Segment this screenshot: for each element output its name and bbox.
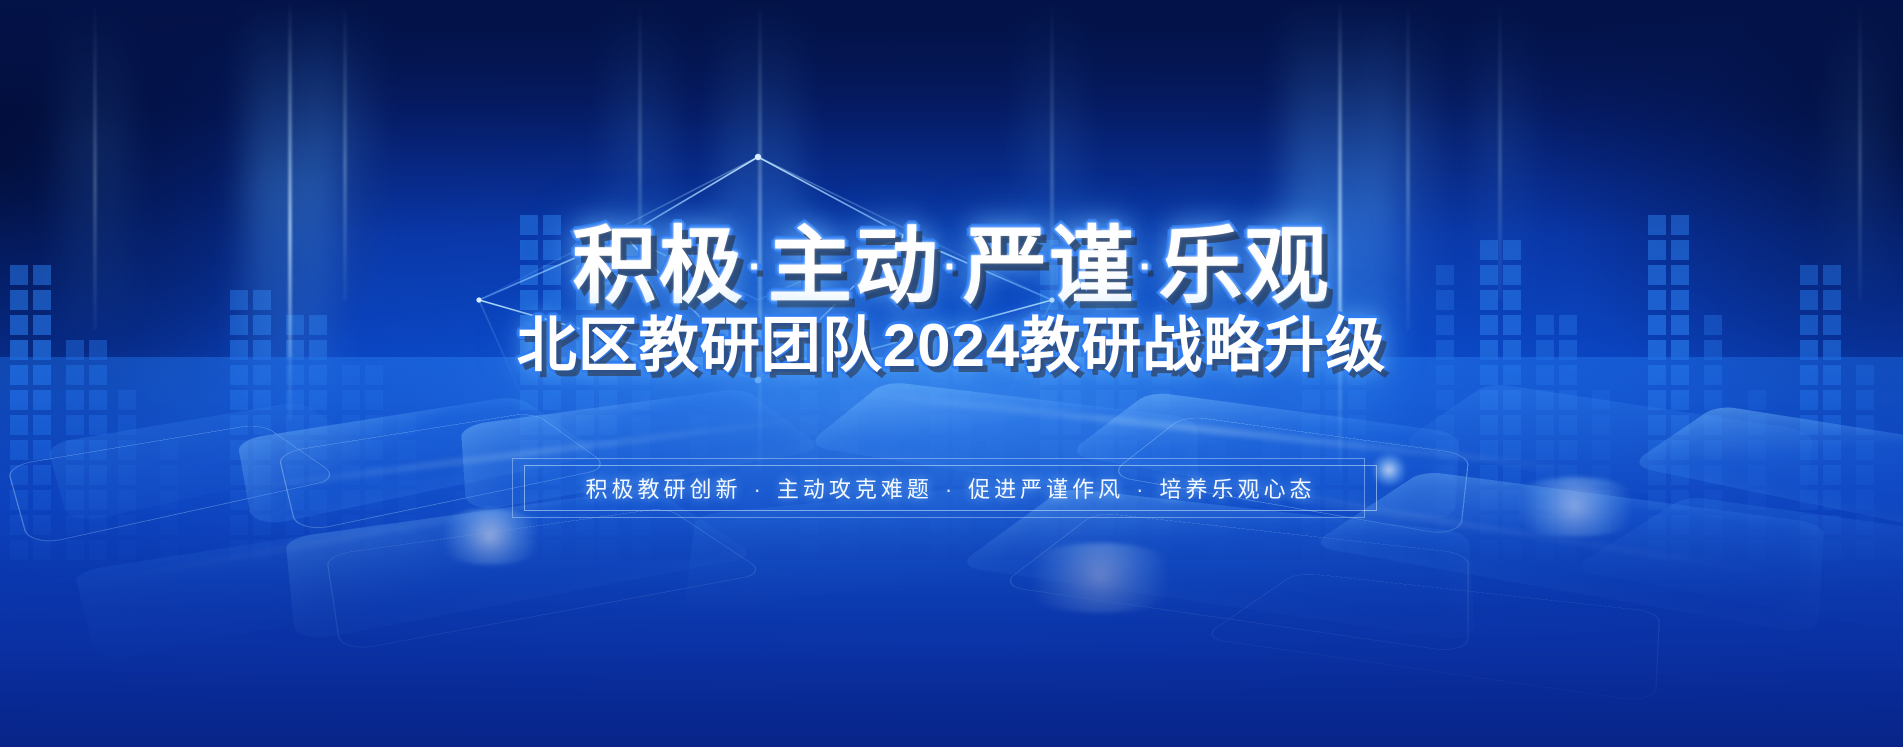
tagline-item-4: 培养乐观心态 (1160, 477, 1316, 502)
tagline-item-2: 主动攻克难题 (777, 477, 933, 502)
main-title-word-1: 积极 (572, 219, 744, 313)
main-title-word-2: 主动 (768, 219, 940, 313)
tagline-inner-frame: 积极教研创新·主动攻克难题·促进严谨作风·培养乐观心态 (524, 465, 1377, 511)
banner-content: 积极·主动·严谨·乐观 北区教研团队2024教研战略升级 积极教研创新·主动攻克… (0, 0, 1903, 747)
tagline-item-3: 促进严谨作风 (968, 477, 1124, 502)
main-title-separator: · (940, 245, 963, 289)
main-title-separator: · (744, 245, 767, 289)
banner-subtitle: 北区教研团队2024教研战略升级 (517, 316, 1386, 376)
banner-stage: 积极·主动·严谨·乐观 北区教研团队2024教研战略升级 积极教研创新·主动攻克… (0, 0, 1903, 747)
tagline-item-1: 积极教研创新 (585, 477, 741, 502)
tagline-separator: · (1124, 477, 1159, 502)
banner-main-title: 积极·主动·严谨·乐观 (572, 224, 1330, 308)
tagline-text: 积极教研创新·主动攻克难题·促进严谨作风·培养乐观心态 (585, 472, 1315, 504)
banner-tagline: 积极教研创新·主动攻克难题·促进严谨作风·培养乐观心态 (512, 458, 1365, 518)
tagline-separator: · (933, 477, 968, 502)
main-title-word-4: 乐观 (1159, 219, 1331, 313)
main-title-separator: · (1135, 245, 1158, 289)
tagline-separator: · (741, 477, 776, 502)
main-title-word-3: 严谨 (963, 219, 1135, 313)
